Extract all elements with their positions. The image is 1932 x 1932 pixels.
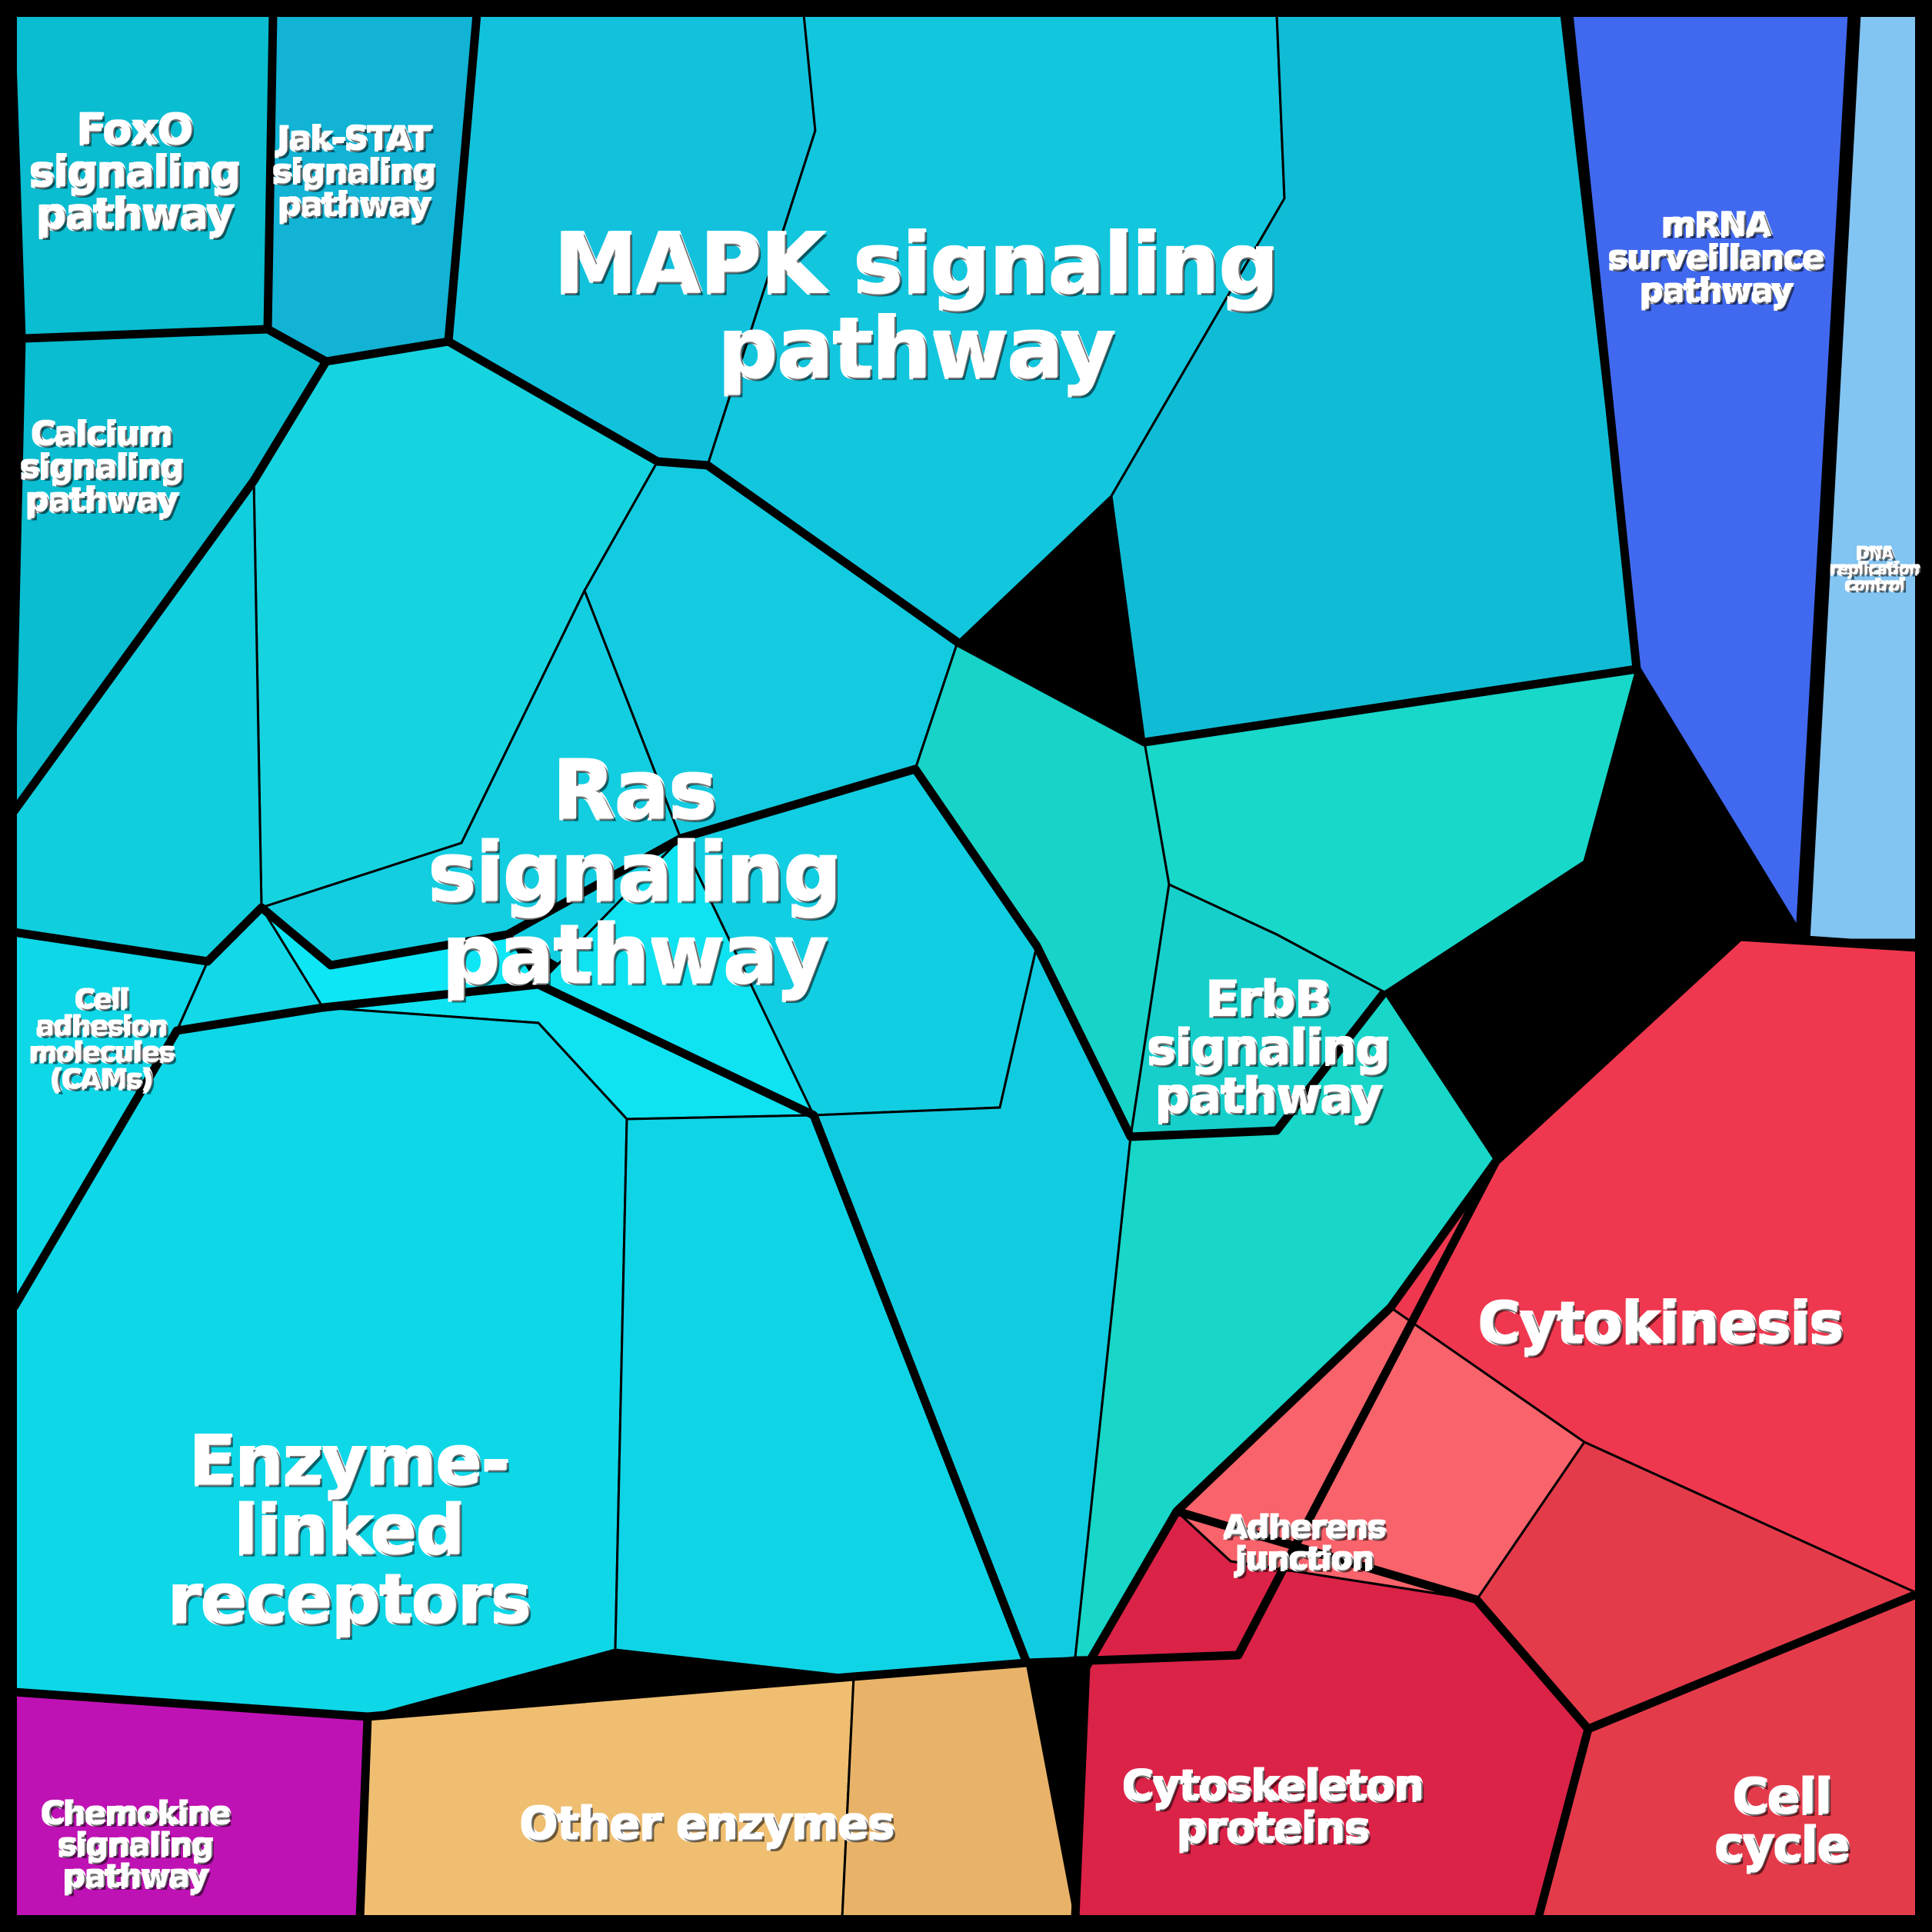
treemap-canvas — [0, 0, 1932, 1932]
cell-foxo[interactable] — [14, 14, 273, 338]
cell-jakstat[interactable] — [268, 14, 477, 361]
voronoi-treemap-figure: FoxO signaling pathway Jak-STAT signalin… — [0, 0, 1932, 1932]
cell-chemokine[interactable] — [14, 1692, 368, 1918]
